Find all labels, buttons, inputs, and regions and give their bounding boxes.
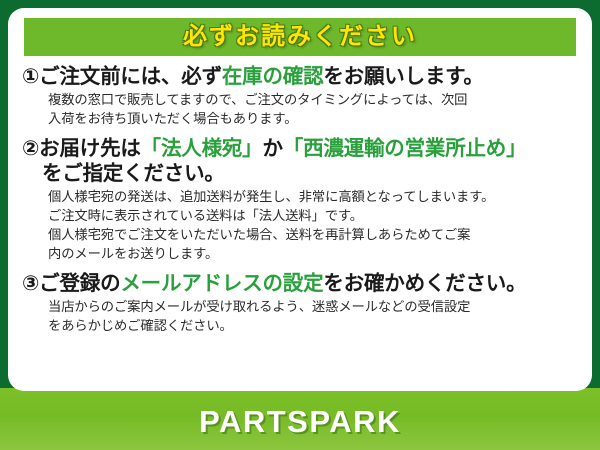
notice-item-3-heading-highlight: メールアドレスの設定 bbox=[120, 272, 323, 295]
notice-item-2-heading-highlight-1: 「法人様宛」 bbox=[141, 137, 263, 160]
notice-item-3-marker: ③ bbox=[22, 272, 39, 295]
notice-item-2-heading-part-2: か bbox=[262, 137, 282, 160]
notice-item-2-body-line-2: ご注文時に表示されている送料は「法人送料」です。 bbox=[48, 206, 578, 225]
header-title: 必ずお読みください bbox=[183, 25, 417, 49]
notice-item-3: ③ご登録のメールアドレスの設定をお確かめください。 当店からのご案内メールが受け… bbox=[22, 271, 578, 336]
notice-item-3-body: 当店からのご案内メールが受け取れるよう、迷惑メールなどの受信設定 をあらかじめご… bbox=[22, 297, 578, 336]
notice-item-3-body-line-2: をあらかじめご確認ください。 bbox=[48, 316, 578, 335]
notice-item-1-heading: ①ご注文前には、必ず在庫の確認をお願いします。 bbox=[22, 64, 578, 89]
notice-item-1-marker: ① bbox=[22, 65, 39, 88]
notice-item-3-body-line-1: 当店からのご案内メールが受け取れるよう、迷惑メールなどの受信設定 bbox=[48, 297, 578, 316]
notice-item-1-body-line-1: 複数の窓口で販売してますので、ご注文のタイミングによっては、次回 bbox=[48, 90, 578, 109]
notice-item-1: ①ご注文前には、必ず在庫の確認をお願いします。 複数の窓口で販売してますので、ご… bbox=[22, 64, 578, 129]
notice-item-1-heading-part-2: をお願いします。 bbox=[323, 65, 483, 88]
notice-item-1-body: 複数の窓口で販売してますので、ご注文のタイミングによっては、次回 入荷をお待ち頂… bbox=[22, 90, 578, 129]
notice-item-2-heading-part-0: お届け先は bbox=[39, 137, 141, 160]
notice-frame: PARTSPARK 必ずお読みください ①ご注文前には、必ず在庫の確認をお願いし… bbox=[0, 0, 600, 450]
brand-wordmark: PARTSPARK bbox=[199, 406, 401, 437]
notice-item-3-heading-part-0: ご登録の bbox=[39, 272, 120, 295]
notice-item-2-body-line-1: 個人様宅宛の発送は、追加送料が発生し、非常に高額となってしまいます。 bbox=[48, 187, 578, 206]
notice-item-2-heading-highlight-2: 「西濃運輸の営業所止め」 bbox=[283, 137, 527, 160]
notice-item-2-heading-line2: をご指定ください。 bbox=[22, 161, 578, 186]
header-bar: 必ずお読みください bbox=[24, 18, 576, 56]
notice-item-list: ①ご注文前には、必ず在庫の確認をお願いします。 複数の窓口で販売してますので、ご… bbox=[20, 64, 580, 335]
notice-panel: 必ずお読みください ①ご注文前には、必ず在庫の確認をお願いします。 複数の窓口で… bbox=[8, 8, 592, 391]
notice-item-3-heading-part-2: をお確かめください。 bbox=[323, 272, 526, 295]
notice-item-3-heading: ③ご登録のメールアドレスの設定をお確かめください。 bbox=[22, 271, 578, 296]
notice-item-2-heading: ②お届け先は「法人様宛」か「西濃運輸の営業所止め」 bbox=[22, 136, 578, 161]
notice-item-2-body-line-3: 個人様宅宛でご注文をいただいた場合、送料を再計算しあらためてご案 bbox=[48, 225, 578, 244]
footer-brand-band: PARTSPARK bbox=[0, 388, 600, 450]
notice-item-1-heading-part-0: ご注文前には、必ず bbox=[39, 65, 222, 88]
notice-item-2-body: 個人様宅宛の発送は、追加送料が発生し、非常に高額となってしまいます。 ご注文時に… bbox=[22, 187, 578, 264]
notice-item-2: ②お届け先は「法人様宛」か「西濃運輸の営業所止め」 をご指定ください。 個人様宅… bbox=[22, 136, 578, 264]
notice-item-2-marker: ② bbox=[22, 137, 39, 160]
notice-item-2-body-line-4: 内のメールをお送りします。 bbox=[48, 244, 578, 263]
notice-item-1-heading-highlight: 在庫の確認 bbox=[222, 65, 324, 88]
notice-item-1-body-line-2: 入荷をお待ち頂いただく場合もあります。 bbox=[48, 109, 578, 128]
